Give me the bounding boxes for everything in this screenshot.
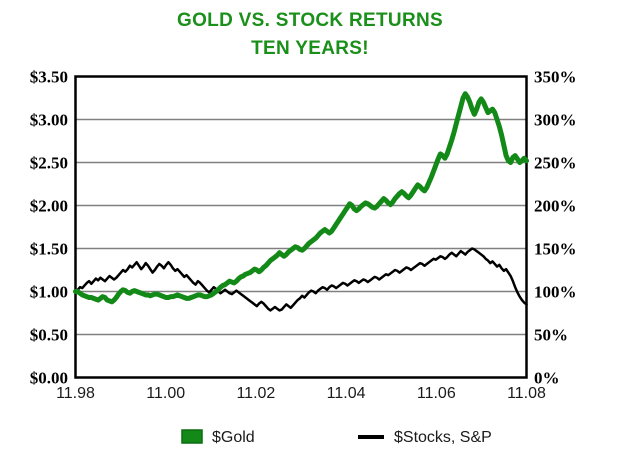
gold-legend-swatch-icon xyxy=(182,430,202,443)
right-axis-tick-label: 200% xyxy=(534,197,577,216)
left-axis-tick-label: $1.50 xyxy=(30,240,68,259)
x-axis-tick-label: 11.04 xyxy=(327,385,366,402)
left-axis-tick-label: $3.00 xyxy=(30,111,68,130)
left-axis-tick-label: $3.50 xyxy=(30,68,68,87)
left-axis-tick-label: $2.00 xyxy=(30,197,68,216)
chart-figure: GOLD VS. STOCK RETURNS TEN YEARS! $0.00$… xyxy=(0,0,620,463)
left-axis-tick-label: $0.50 xyxy=(30,326,68,345)
x-axis-tick-label: 11.08 xyxy=(507,385,546,402)
x-axis-tick-label: 11.02 xyxy=(236,385,275,402)
right-axis-tick-label: 50% xyxy=(534,326,568,345)
chart-subtitle: TEN YEARS! xyxy=(251,38,369,59)
chart-canvas: GOLD VS. STOCK RETURNS TEN YEARS! $0.00$… xyxy=(0,0,620,463)
right-axis-tick-label: 250% xyxy=(534,154,577,173)
right-axis-tick-label: 300% xyxy=(534,111,577,130)
x-axis-tick-label: 11.00 xyxy=(146,385,185,402)
left-axis-tick-label: $1.00 xyxy=(30,283,68,302)
stocks-legend-label: $Stocks, S&P xyxy=(394,429,492,446)
chart-title: GOLD VS. STOCK RETURNS xyxy=(177,10,443,31)
right-axis-tick-label: 350% xyxy=(534,68,577,87)
x-axis-tick-label: 11.98 xyxy=(56,385,95,402)
right-axis-tick-label: 100% xyxy=(534,283,577,302)
gold-legend-label: $Gold xyxy=(212,429,255,446)
x-axis-tick-label: 11.06 xyxy=(417,385,456,402)
left-axis-tick-label: $2.50 xyxy=(30,154,68,173)
right-axis-tick-label: 150% xyxy=(534,240,577,259)
